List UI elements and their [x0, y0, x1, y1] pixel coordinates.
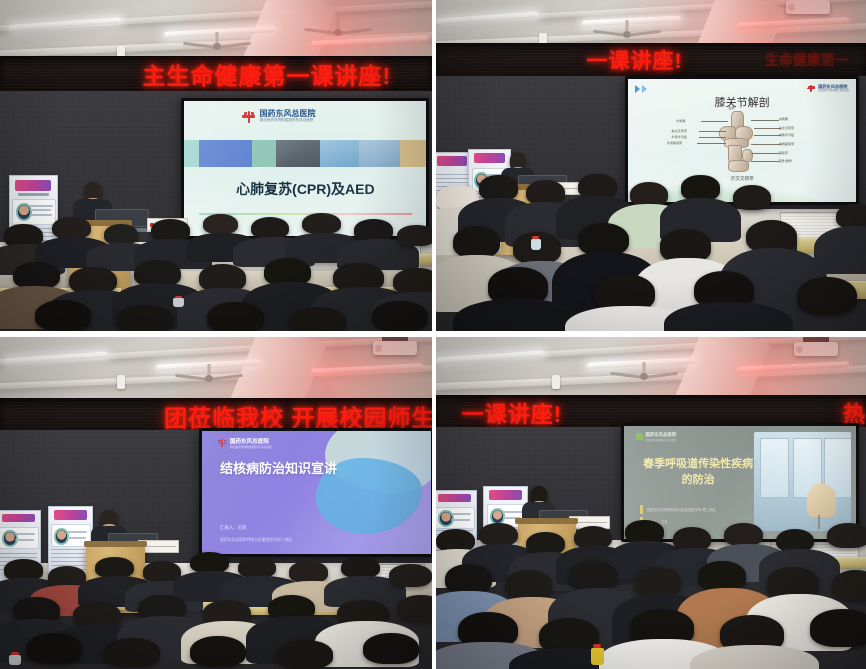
- slide-brand-sub: 湖北医药学院附属国药东风总医院: [259, 119, 315, 123]
- audience-area: [0, 549, 432, 669]
- ceiling-projector: [373, 337, 419, 356]
- ceiling-fan-icon: [302, 18, 374, 34]
- brand-mark-icon: [636, 433, 643, 440]
- collage-panel-bottom-right: 一课讲座! 热: [432, 331, 866, 669]
- medical-cross-icon: [242, 111, 255, 123]
- slide-color-band: [184, 140, 426, 167]
- ceiling-light-tube: [582, 16, 681, 27]
- ceiling-fan-icon: [591, 20, 663, 36]
- ceiling-beam: [436, 337, 866, 365]
- ceiling-light-tube: [436, 350, 544, 363]
- photo-bottom-right: 一课讲座! 热: [436, 337, 866, 669]
- ceiling-fan-icon: [181, 32, 253, 48]
- ceiling-light-tube: [586, 357, 694, 369]
- slide-title-line2: 的防治: [682, 474, 715, 486]
- ceiling-light-tube: [9, 17, 121, 31]
- photo-bottom-left: 团莅临我校 开展校园师生生命健: [0, 337, 432, 669]
- ceiling-sensor-icon: [117, 375, 125, 389]
- ceiling-light-tube: [155, 359, 259, 370]
- medical-cross-icon: [807, 85, 815, 92]
- slide-brand-name: 国药东风总医院: [230, 437, 272, 445]
- ceiling-light-tube: [164, 27, 276, 39]
- ceiling-beam: [436, 363, 866, 390]
- ceiling-sensor-icon: [552, 375, 560, 389]
- audience-area: [436, 172, 866, 331]
- led-banner-ghost-text: 生命健康第一: [765, 50, 849, 70]
- audience-area: [0, 212, 432, 331]
- led-banner-text: 一课讲座!: [462, 397, 562, 429]
- medical-cross-icon: [218, 439, 227, 447]
- ceiling-beam: [436, 0, 866, 26]
- slide-title-line1: 春季呼吸道传染性疾病: [643, 458, 753, 470]
- slide-room-photo: [754, 432, 852, 531]
- chair-shape: [807, 484, 836, 518]
- led-banner-top-left: 主生命健康第一课讲座!: [0, 56, 432, 91]
- projection-screen-tb: 国药东风总医院 湖北医药学院附属国药东风总医院 结核病防治知识宣讲 汇报人：石阳…: [199, 428, 432, 557]
- slide-brand-row: 国药东风总医院 湖北医药学院附属东风总医院: [807, 85, 849, 92]
- ceiling-fan-icon: [608, 362, 680, 378]
- rollup-header: [2, 514, 35, 523]
- collage-panel-top-left: 主生命健康第一课讲座! 国药东风总医院 湖北: [0, 0, 432, 331]
- collage-panel-top-right: 一课讲座! 生命健康第一: [432, 0, 866, 331]
- slide-brand-row: 国药东风总医院 湖北医药学院附属国药东风总医院: [242, 110, 315, 123]
- bone-lower: [728, 160, 748, 172]
- ceiling-light-tube: [311, 363, 423, 375]
- led-banner-text: 主生命健康第一课讲座!: [143, 57, 392, 91]
- audience-area: [436, 520, 866, 669]
- ceiling-fan-icon: [173, 364, 245, 380]
- collage-panel-bottom-left: 团莅临我校 开展校园师生生命健: [0, 331, 432, 669]
- slide-tuberculosis: 国药东风总医院 湖北医药学院附属国药东风总医院 结核病防治知识宣讲 汇报人：石阳…: [202, 431, 431, 554]
- slide-decor-logo: [635, 85, 647, 93]
- ceiling-light-tube: [436, 11, 539, 24]
- slide-presenter: 汇报人：石阳: [220, 525, 246, 531]
- slide-title: 心肺复苏(CPR)及AED: [184, 179, 426, 199]
- rollup-header: [437, 156, 466, 166]
- rollup-header: [489, 490, 522, 499]
- slide-surface: 国药东风总医院 湖北医药学院附属国药东风总医院 结核病防治知识宣讲 汇报人：石阳…: [202, 431, 431, 554]
- photo-collage: 主生命健康第一课讲座! 国药东风总医院 湖北: [0, 0, 866, 669]
- rollup-header: [438, 494, 471, 503]
- ceiling-light-tube: [737, 361, 849, 373]
- led-banner-text: 一课讲座!: [587, 45, 683, 75]
- rollup-header: [15, 180, 51, 191]
- rollup-subtitle: [18, 193, 48, 196]
- ceiling-light-tube: [4, 351, 108, 364]
- rollup-header: [54, 510, 87, 519]
- led-banner-top-right: 一课讲座! 生命健康第一: [436, 43, 866, 78]
- photo-top-right: 一课讲座! 生命健康第一: [436, 0, 866, 331]
- photo-top-left: 主生命健康第一课讲座! 国药东风总医院 湖北: [0, 0, 432, 331]
- slide-brand-row: 国药东风总医院 湖北医药学院附属东风总医院: [636, 432, 677, 442]
- rollup-doctor-card: [0, 527, 39, 549]
- ceiling-projector: [786, 0, 832, 15]
- ceiling-projector: [794, 337, 840, 357]
- ceiling-beam: [0, 0, 432, 32]
- slide-department: 国药东风总医院呼吸与危重症医学科二病区: [220, 538, 292, 543]
- ceiling-beam: [0, 363, 432, 390]
- slide-brand-sub: 湖北医药学院附属国药东风总医院: [230, 445, 272, 449]
- slide-brand-row: 国药东风总医院 湖北医药学院附属国药东风总医院: [218, 437, 272, 449]
- ceiling-light-tube: [311, 34, 428, 46]
- ceiling-beam: [0, 337, 432, 366]
- slide-title: 结核病防治知识宣讲: [220, 458, 337, 477]
- ceiling-beam: [0, 31, 432, 59]
- slide-bullet-1: 国药东风总医院呼吸与危重症医学科 第二病区: [640, 505, 716, 514]
- ceiling-light-tube: [737, 17, 849, 29]
- slide-title: 膝关节解剖: [628, 94, 856, 110]
